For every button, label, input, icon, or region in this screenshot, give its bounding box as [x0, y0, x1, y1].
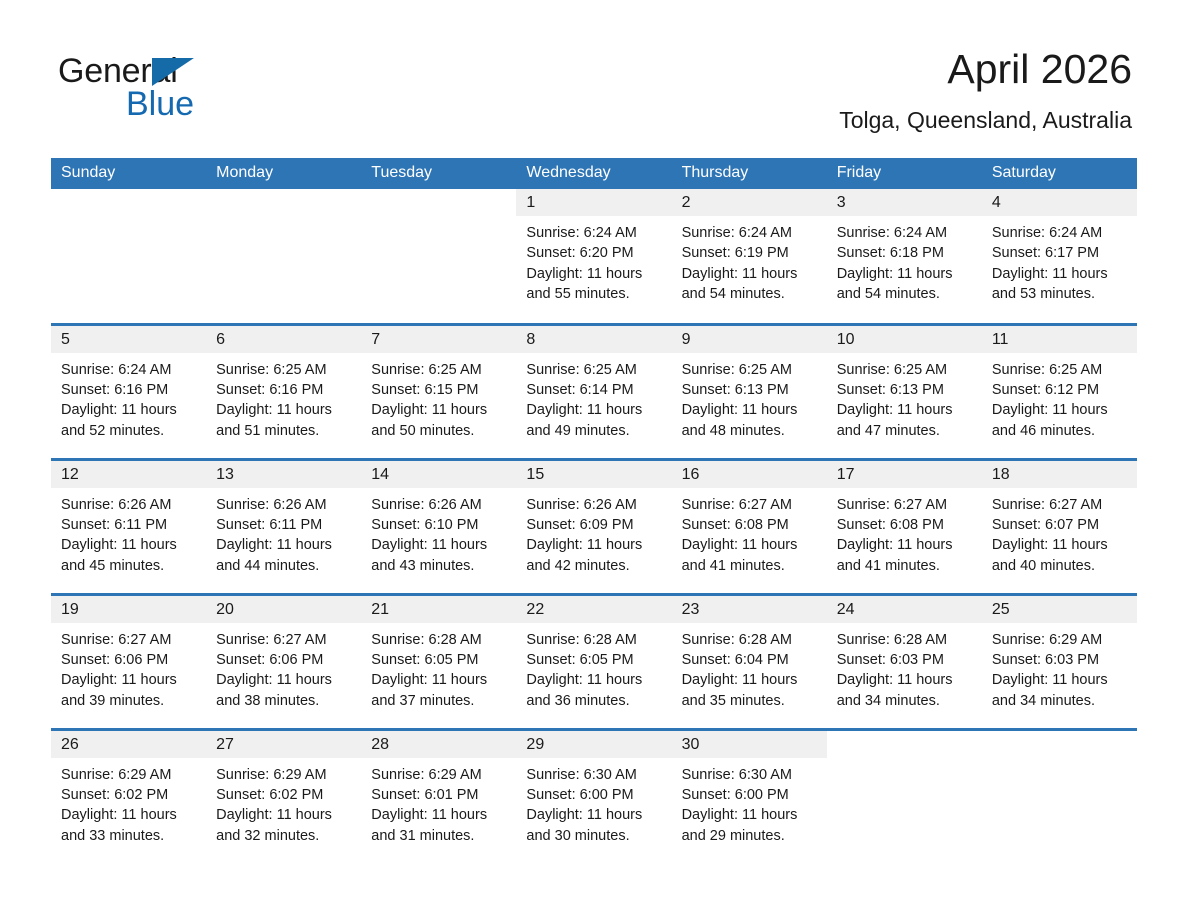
- calendar-day-cell-empty: [827, 729, 982, 864]
- calendar-day-cell[interactable]: 2Sunrise: 6:24 AMSunset: 6:19 PMDaylight…: [672, 189, 827, 324]
- sunrise-time: Sunrise: 6:27 AM: [61, 630, 198, 650]
- daylight-duration-line2: and 52 minutes.: [61, 421, 198, 441]
- day-cell-inner: 29Sunrise: 6:30 AMSunset: 6:00 PMDayligh…: [516, 731, 671, 865]
- calendar-day-cell[interactable]: 12Sunrise: 6:26 AMSunset: 6:11 PMDayligh…: [51, 459, 206, 594]
- day-detail: Sunrise: 6:25 AMSunset: 6:15 PMDaylight:…: [361, 353, 516, 442]
- daylight-duration-line1: Daylight: 11 hours: [526, 535, 663, 555]
- day-cell-inner: [361, 189, 516, 323]
- day-detail: Sunrise: 6:25 AMSunset: 6:16 PMDaylight:…: [206, 353, 361, 442]
- calendar-day-cell-empty: [361, 189, 516, 324]
- daylight-duration-line2: and 29 minutes.: [682, 826, 819, 846]
- sunrise-time: Sunrise: 6:25 AM: [216, 360, 353, 380]
- daylight-duration-line2: and 41 minutes.: [837, 556, 974, 576]
- day-number: 14: [361, 461, 516, 488]
- day-cell-inner: 25Sunrise: 6:29 AMSunset: 6:03 PMDayligh…: [982, 596, 1137, 728]
- day-cell-inner: 22Sunrise: 6:28 AMSunset: 6:05 PMDayligh…: [516, 596, 671, 728]
- day-cell-inner: 7Sunrise: 6:25 AMSunset: 6:15 PMDaylight…: [361, 326, 516, 458]
- day-number: [206, 189, 361, 216]
- daylight-duration-line2: and 33 minutes.: [61, 826, 198, 846]
- day-number: 27: [206, 731, 361, 758]
- sunset-time: Sunset: 6:07 PM: [992, 515, 1129, 535]
- sunrise-time: Sunrise: 6:28 AM: [371, 630, 508, 650]
- day-number: 29: [516, 731, 671, 758]
- title-block: April 2026 Tolga, Queensland, Australia: [839, 44, 1132, 134]
- sunrise-time: Sunrise: 6:30 AM: [526, 765, 663, 785]
- sunrise-time: Sunrise: 6:25 AM: [526, 360, 663, 380]
- sunset-time: Sunset: 6:12 PM: [992, 380, 1129, 400]
- day-detail: Sunrise: 6:29 AMSunset: 6:02 PMDaylight:…: [206, 758, 361, 847]
- sunset-time: Sunset: 6:00 PM: [526, 785, 663, 805]
- day-number: 2: [672, 189, 827, 216]
- sunset-time: Sunset: 6:03 PM: [837, 650, 974, 670]
- calendar-page: General Blue April 2026 Tolga, Queenslan…: [0, 0, 1188, 918]
- day-cell-inner: 27Sunrise: 6:29 AMSunset: 6:02 PMDayligh…: [206, 731, 361, 865]
- daylight-duration-line2: and 43 minutes.: [371, 556, 508, 576]
- calendar-day-cell[interactable]: 16Sunrise: 6:27 AMSunset: 6:08 PMDayligh…: [672, 459, 827, 594]
- sunset-time: Sunset: 6:10 PM: [371, 515, 508, 535]
- day-detail: Sunrise: 6:26 AMSunset: 6:10 PMDaylight:…: [361, 488, 516, 577]
- day-detail: Sunrise: 6:24 AMSunset: 6:16 PMDaylight:…: [51, 353, 206, 442]
- day-number: 26: [51, 731, 206, 758]
- weekday-header-saturday: Saturday: [982, 158, 1137, 189]
- calendar-day-cell[interactable]: 22Sunrise: 6:28 AMSunset: 6:05 PMDayligh…: [516, 594, 671, 729]
- day-detail: Sunrise: 6:25 AMSunset: 6:13 PMDaylight:…: [827, 353, 982, 442]
- sunrise-time: Sunrise: 6:26 AM: [526, 495, 663, 515]
- calendar-day-cell[interactable]: 1Sunrise: 6:24 AMSunset: 6:20 PMDaylight…: [516, 189, 671, 324]
- sunrise-time: Sunrise: 6:24 AM: [61, 360, 198, 380]
- day-number: 21: [361, 596, 516, 623]
- sunrise-time: Sunrise: 6:25 AM: [992, 360, 1129, 380]
- day-cell-inner: 26Sunrise: 6:29 AMSunset: 6:02 PMDayligh…: [51, 731, 206, 865]
- day-detail: Sunrise: 6:29 AMSunset: 6:02 PMDaylight:…: [51, 758, 206, 847]
- daylight-duration-line2: and 46 minutes.: [992, 421, 1129, 441]
- calendar-week-row: 12Sunrise: 6:26 AMSunset: 6:11 PMDayligh…: [51, 459, 1137, 594]
- day-number: [982, 731, 1137, 758]
- day-detail: Sunrise: 6:27 AMSunset: 6:06 PMDaylight:…: [51, 623, 206, 712]
- daylight-duration-line1: Daylight: 11 hours: [837, 264, 974, 284]
- page-header: General Blue April 2026 Tolga, Queenslan…: [0, 0, 1188, 150]
- calendar-day-cell[interactable]: 24Sunrise: 6:28 AMSunset: 6:03 PMDayligh…: [827, 594, 982, 729]
- day-cell-inner: 13Sunrise: 6:26 AMSunset: 6:11 PMDayligh…: [206, 461, 361, 593]
- day-detail: Sunrise: 6:28 AMSunset: 6:03 PMDaylight:…: [827, 623, 982, 712]
- sunset-time: Sunset: 6:17 PM: [992, 243, 1129, 263]
- calendar-day-cell[interactable]: 15Sunrise: 6:26 AMSunset: 6:09 PMDayligh…: [516, 459, 671, 594]
- day-detail: Sunrise: 6:26 AMSunset: 6:11 PMDaylight:…: [51, 488, 206, 577]
- daylight-duration-line2: and 54 minutes.: [682, 284, 819, 304]
- weekday-header-monday: Monday: [206, 158, 361, 189]
- day-number: 13: [206, 461, 361, 488]
- day-number: 8: [516, 326, 671, 353]
- sunset-time: Sunset: 6:04 PM: [682, 650, 819, 670]
- day-detail: Sunrise: 6:28 AMSunset: 6:04 PMDaylight:…: [672, 623, 827, 712]
- day-cell-inner: 8Sunrise: 6:25 AMSunset: 6:14 PMDaylight…: [516, 326, 671, 458]
- sunrise-time: Sunrise: 6:24 AM: [992, 223, 1129, 243]
- day-cell-inner: [206, 189, 361, 323]
- day-detail: Sunrise: 6:28 AMSunset: 6:05 PMDaylight:…: [516, 623, 671, 712]
- daylight-duration-line1: Daylight: 11 hours: [992, 400, 1129, 420]
- day-detail: Sunrise: 6:24 AMSunset: 6:18 PMDaylight:…: [827, 216, 982, 305]
- sunset-time: Sunset: 6:11 PM: [216, 515, 353, 535]
- day-number: 3: [827, 189, 982, 216]
- calendar-day-cell[interactable]: 14Sunrise: 6:26 AMSunset: 6:10 PMDayligh…: [361, 459, 516, 594]
- day-cell-inner: 5Sunrise: 6:24 AMSunset: 6:16 PMDaylight…: [51, 326, 206, 458]
- sunset-time: Sunset: 6:02 PM: [61, 785, 198, 805]
- calendar-day-cell[interactable]: 18Sunrise: 6:27 AMSunset: 6:07 PMDayligh…: [982, 459, 1137, 594]
- sunrise-time: Sunrise: 6:29 AM: [216, 765, 353, 785]
- day-cell-inner: 17Sunrise: 6:27 AMSunset: 6:08 PMDayligh…: [827, 461, 982, 593]
- day-number: 12: [51, 461, 206, 488]
- sunset-time: Sunset: 6:02 PM: [216, 785, 353, 805]
- day-cell-inner: 28Sunrise: 6:29 AMSunset: 6:01 PMDayligh…: [361, 731, 516, 865]
- daylight-duration-line1: Daylight: 11 hours: [371, 400, 508, 420]
- sunset-time: Sunset: 6:11 PM: [61, 515, 198, 535]
- day-number: 4: [982, 189, 1137, 216]
- daylight-duration-line2: and 51 minutes.: [216, 421, 353, 441]
- calendar-week-row: 26Sunrise: 6:29 AMSunset: 6:02 PMDayligh…: [51, 729, 1137, 864]
- day-number: [361, 189, 516, 216]
- day-cell-inner: 23Sunrise: 6:28 AMSunset: 6:04 PMDayligh…: [672, 596, 827, 728]
- sunrise-time: Sunrise: 6:26 AM: [371, 495, 508, 515]
- day-number: 24: [827, 596, 982, 623]
- calendar-day-cell[interactable]: 3Sunrise: 6:24 AMSunset: 6:18 PMDaylight…: [827, 189, 982, 324]
- sunset-time: Sunset: 6:18 PM: [837, 243, 974, 263]
- day-number: 11: [982, 326, 1137, 353]
- logo-text-blue: Blue: [126, 85, 194, 123]
- daylight-duration-line1: Daylight: 11 hours: [526, 670, 663, 690]
- daylight-duration-line2: and 35 minutes.: [682, 691, 819, 711]
- day-cell-inner: 2Sunrise: 6:24 AMSunset: 6:19 PMDaylight…: [672, 189, 827, 323]
- calendar-day-cell[interactable]: 20Sunrise: 6:27 AMSunset: 6:06 PMDayligh…: [206, 594, 361, 729]
- day-number: 16: [672, 461, 827, 488]
- daylight-duration-line2: and 55 minutes.: [526, 284, 663, 304]
- day-number: 28: [361, 731, 516, 758]
- sunrise-time: Sunrise: 6:28 AM: [526, 630, 663, 650]
- sunrise-time: Sunrise: 6:24 AM: [526, 223, 663, 243]
- calendar-week-row: 5Sunrise: 6:24 AMSunset: 6:16 PMDaylight…: [51, 324, 1137, 459]
- daylight-duration-line2: and 44 minutes.: [216, 556, 353, 576]
- day-cell-inner: 10Sunrise: 6:25 AMSunset: 6:13 PMDayligh…: [827, 326, 982, 458]
- day-number: 25: [982, 596, 1137, 623]
- sunset-time: Sunset: 6:14 PM: [526, 380, 663, 400]
- day-detail: Sunrise: 6:24 AMSunset: 6:19 PMDaylight:…: [672, 216, 827, 305]
- sunrise-time: Sunrise: 6:27 AM: [837, 495, 974, 515]
- location-subtitle: Tolga, Queensland, Australia: [839, 106, 1132, 134]
- sunset-time: Sunset: 6:19 PM: [682, 243, 819, 263]
- daylight-duration-line1: Daylight: 11 hours: [992, 535, 1129, 555]
- day-detail: Sunrise: 6:27 AMSunset: 6:06 PMDaylight:…: [206, 623, 361, 712]
- day-number: 15: [516, 461, 671, 488]
- weekday-header-tuesday: Tuesday: [361, 158, 516, 189]
- daylight-duration-line2: and 36 minutes.: [526, 691, 663, 711]
- sunset-time: Sunset: 6:13 PM: [682, 380, 819, 400]
- day-cell-inner: 18Sunrise: 6:27 AMSunset: 6:07 PMDayligh…: [982, 461, 1137, 593]
- calendar-day-cell[interactable]: 28Sunrise: 6:29 AMSunset: 6:01 PMDayligh…: [361, 729, 516, 864]
- daylight-duration-line2: and 38 minutes.: [216, 691, 353, 711]
- sunset-time: Sunset: 6:20 PM: [526, 243, 663, 263]
- sunset-time: Sunset: 6:08 PM: [837, 515, 974, 535]
- daylight-duration-line2: and 47 minutes.: [837, 421, 974, 441]
- daylight-duration-line1: Daylight: 11 hours: [682, 670, 819, 690]
- sunset-time: Sunset: 6:15 PM: [371, 380, 508, 400]
- daylight-duration-line2: and 37 minutes.: [371, 691, 508, 711]
- calendar-day-cell[interactable]: 5Sunrise: 6:24 AMSunset: 6:16 PMDaylight…: [51, 324, 206, 459]
- day-cell-inner: 12Sunrise: 6:26 AMSunset: 6:11 PMDayligh…: [51, 461, 206, 593]
- sunset-time: Sunset: 6:00 PM: [682, 785, 819, 805]
- logo-triangle-icon: [152, 58, 194, 86]
- daylight-duration-line2: and 34 minutes.: [992, 691, 1129, 711]
- sunrise-time: Sunrise: 6:27 AM: [992, 495, 1129, 515]
- calendar-day-cell[interactable]: 4Sunrise: 6:24 AMSunset: 6:17 PMDaylight…: [982, 189, 1137, 324]
- day-cell-inner: 16Sunrise: 6:27 AMSunset: 6:08 PMDayligh…: [672, 461, 827, 593]
- daylight-duration-line1: Daylight: 11 hours: [216, 400, 353, 420]
- day-number: 17: [827, 461, 982, 488]
- sunset-time: Sunset: 6:13 PM: [837, 380, 974, 400]
- daylight-duration-line2: and 40 minutes.: [992, 556, 1129, 576]
- calendar-day-cell[interactable]: 7Sunrise: 6:25 AMSunset: 6:15 PMDaylight…: [361, 324, 516, 459]
- calendar-day-cell[interactable]: 25Sunrise: 6:29 AMSunset: 6:03 PMDayligh…: [982, 594, 1137, 729]
- generalblue-logo[interactable]: General Blue: [58, 52, 378, 132]
- calendar-body: 1Sunrise: 6:24 AMSunset: 6:20 PMDaylight…: [51, 189, 1137, 864]
- daylight-duration-line2: and 54 minutes.: [837, 284, 974, 304]
- daylight-duration-line1: Daylight: 11 hours: [526, 400, 663, 420]
- day-detail: Sunrise: 6:25 AMSunset: 6:12 PMDaylight:…: [982, 353, 1137, 442]
- day-cell-inner: [51, 189, 206, 323]
- calendar-day-cell[interactable]: 23Sunrise: 6:28 AMSunset: 6:04 PMDayligh…: [672, 594, 827, 729]
- sunset-time: Sunset: 6:05 PM: [371, 650, 508, 670]
- day-number: 10: [827, 326, 982, 353]
- day-detail: Sunrise: 6:26 AMSunset: 6:09 PMDaylight:…: [516, 488, 671, 577]
- day-cell-inner: 14Sunrise: 6:26 AMSunset: 6:10 PMDayligh…: [361, 461, 516, 593]
- sunset-time: Sunset: 6:06 PM: [61, 650, 198, 670]
- daylight-duration-line1: Daylight: 11 hours: [837, 535, 974, 555]
- calendar-day-cell[interactable]: 6Sunrise: 6:25 AMSunset: 6:16 PMDaylight…: [206, 324, 361, 459]
- daylight-duration-line1: Daylight: 11 hours: [216, 805, 353, 825]
- weekday-header-wednesday: Wednesday: [516, 158, 671, 189]
- sunrise-time: Sunrise: 6:25 AM: [837, 360, 974, 380]
- day-detail: Sunrise: 6:25 AMSunset: 6:13 PMDaylight:…: [672, 353, 827, 442]
- day-number: [51, 189, 206, 216]
- daylight-duration-line1: Daylight: 11 hours: [682, 264, 819, 284]
- day-cell-inner: 24Sunrise: 6:28 AMSunset: 6:03 PMDayligh…: [827, 596, 982, 728]
- daylight-duration-line2: and 34 minutes.: [837, 691, 974, 711]
- daylight-duration-line1: Daylight: 11 hours: [837, 400, 974, 420]
- sunset-time: Sunset: 6:05 PM: [526, 650, 663, 670]
- daylight-duration-line1: Daylight: 11 hours: [526, 805, 663, 825]
- daylight-duration-line2: and 39 minutes.: [61, 691, 198, 711]
- daylight-duration-line1: Daylight: 11 hours: [371, 670, 508, 690]
- day-detail: Sunrise: 6:25 AMSunset: 6:14 PMDaylight:…: [516, 353, 671, 442]
- day-number: 5: [51, 326, 206, 353]
- daylight-duration-line2: and 50 minutes.: [371, 421, 508, 441]
- sunrise-time: Sunrise: 6:27 AM: [682, 495, 819, 515]
- day-detail: Sunrise: 6:30 AMSunset: 6:00 PMDaylight:…: [516, 758, 671, 847]
- calendar-day-cell[interactable]: 13Sunrise: 6:26 AMSunset: 6:11 PMDayligh…: [206, 459, 361, 594]
- day-number: 30: [672, 731, 827, 758]
- daylight-duration-line2: and 53 minutes.: [992, 284, 1129, 304]
- daylight-duration-line2: and 42 minutes.: [526, 556, 663, 576]
- day-detail: Sunrise: 6:28 AMSunset: 6:05 PMDaylight:…: [361, 623, 516, 712]
- sunrise-time: Sunrise: 6:26 AM: [216, 495, 353, 515]
- day-number: [827, 731, 982, 758]
- day-cell-inner: 15Sunrise: 6:26 AMSunset: 6:09 PMDayligh…: [516, 461, 671, 593]
- weekday-header-thursday: Thursday: [672, 158, 827, 189]
- daylight-duration-line2: and 32 minutes.: [216, 826, 353, 846]
- day-detail: Sunrise: 6:29 AMSunset: 6:01 PMDaylight:…: [361, 758, 516, 847]
- sunset-time: Sunset: 6:03 PM: [992, 650, 1129, 670]
- daylight-duration-line2: and 41 minutes.: [682, 556, 819, 576]
- calendar-week-row: 19Sunrise: 6:27 AMSunset: 6:06 PMDayligh…: [51, 594, 1137, 729]
- daylight-duration-line1: Daylight: 11 hours: [61, 670, 198, 690]
- daylight-duration-line1: Daylight: 11 hours: [61, 400, 198, 420]
- daylight-duration-line1: Daylight: 11 hours: [216, 670, 353, 690]
- calendar-day-cell-empty: [206, 189, 361, 324]
- day-cell-inner: 19Sunrise: 6:27 AMSunset: 6:06 PMDayligh…: [51, 596, 206, 728]
- calendar-day-cell[interactable]: 8Sunrise: 6:25 AMSunset: 6:14 PMDaylight…: [516, 324, 671, 459]
- day-number: 19: [51, 596, 206, 623]
- sunrise-time: Sunrise: 6:28 AM: [682, 630, 819, 650]
- day-cell-inner: 3Sunrise: 6:24 AMSunset: 6:18 PMDaylight…: [827, 189, 982, 323]
- sunrise-time: Sunrise: 6:29 AM: [371, 765, 508, 785]
- sunset-time: Sunset: 6:16 PM: [216, 380, 353, 400]
- sunrise-time: Sunrise: 6:25 AM: [371, 360, 508, 380]
- daylight-duration-line1: Daylight: 11 hours: [371, 535, 508, 555]
- calendar-day-cell[interactable]: 27Sunrise: 6:29 AMSunset: 6:02 PMDayligh…: [206, 729, 361, 864]
- sunrise-time: Sunrise: 6:26 AM: [61, 495, 198, 515]
- daylight-duration-line1: Daylight: 11 hours: [61, 535, 198, 555]
- day-detail: Sunrise: 6:30 AMSunset: 6:00 PMDaylight:…: [672, 758, 827, 847]
- daylight-duration-line1: Daylight: 11 hours: [837, 670, 974, 690]
- day-detail: Sunrise: 6:27 AMSunset: 6:07 PMDaylight:…: [982, 488, 1137, 577]
- day-detail: Sunrise: 6:26 AMSunset: 6:11 PMDaylight:…: [206, 488, 361, 577]
- day-number: 22: [516, 596, 671, 623]
- day-detail: Sunrise: 6:29 AMSunset: 6:03 PMDaylight:…: [982, 623, 1137, 712]
- calendar-day-cell-empty: [51, 189, 206, 324]
- calendar-day-cell[interactable]: 11Sunrise: 6:25 AMSunset: 6:12 PMDayligh…: [982, 324, 1137, 459]
- sunset-time: Sunset: 6:06 PM: [216, 650, 353, 670]
- day-cell-inner: 6Sunrise: 6:25 AMSunset: 6:16 PMDaylight…: [206, 326, 361, 458]
- sunset-time: Sunset: 6:01 PM: [371, 785, 508, 805]
- daylight-duration-line2: and 31 minutes.: [371, 826, 508, 846]
- daylight-duration-line1: Daylight: 11 hours: [526, 264, 663, 284]
- daylight-duration-line1: Daylight: 11 hours: [992, 670, 1129, 690]
- day-cell-inner: 30Sunrise: 6:30 AMSunset: 6:00 PMDayligh…: [672, 731, 827, 865]
- daylight-duration-line2: and 30 minutes.: [526, 826, 663, 846]
- daylight-duration-line1: Daylight: 11 hours: [61, 805, 198, 825]
- calendar-day-cell[interactable]: 26Sunrise: 6:29 AMSunset: 6:02 PMDayligh…: [51, 729, 206, 864]
- day-number: 1: [516, 189, 671, 216]
- calendar-day-cell[interactable]: 30Sunrise: 6:30 AMSunset: 6:00 PMDayligh…: [672, 729, 827, 864]
- sunrise-time: Sunrise: 6:27 AM: [216, 630, 353, 650]
- logo-text-general: General: [58, 52, 378, 90]
- daylight-duration-line2: and 48 minutes.: [682, 421, 819, 441]
- calendar-week-row: 1Sunrise: 6:24 AMSunset: 6:20 PMDaylight…: [51, 189, 1137, 324]
- day-cell-inner: [982, 731, 1137, 865]
- daylight-duration-line1: Daylight: 11 hours: [682, 535, 819, 555]
- day-number: 6: [206, 326, 361, 353]
- day-detail: Sunrise: 6:24 AMSunset: 6:20 PMDaylight:…: [516, 216, 671, 305]
- day-cell-inner: 1Sunrise: 6:24 AMSunset: 6:20 PMDaylight…: [516, 189, 671, 323]
- sunset-time: Sunset: 6:09 PM: [526, 515, 663, 535]
- sunrise-sunset-calendar: Sunday Monday Tuesday Wednesday Thursday…: [51, 158, 1137, 864]
- calendar-day-cell[interactable]: 21Sunrise: 6:28 AMSunset: 6:05 PMDayligh…: [361, 594, 516, 729]
- sunrise-time: Sunrise: 6:24 AM: [682, 223, 819, 243]
- weekday-header-friday: Friday: [827, 158, 982, 189]
- calendar-day-cell[interactable]: 19Sunrise: 6:27 AMSunset: 6:06 PMDayligh…: [51, 594, 206, 729]
- daylight-duration-line2: and 49 minutes.: [526, 421, 663, 441]
- day-detail: Sunrise: 6:27 AMSunset: 6:08 PMDaylight:…: [827, 488, 982, 577]
- page-title: April 2026: [839, 44, 1132, 94]
- sunset-time: Sunset: 6:16 PM: [61, 380, 198, 400]
- daylight-duration-line2: and 45 minutes.: [61, 556, 198, 576]
- day-number: 9: [672, 326, 827, 353]
- calendar-day-cell-empty: [982, 729, 1137, 864]
- daylight-duration-line1: Daylight: 11 hours: [216, 535, 353, 555]
- daylight-duration-line1: Daylight: 11 hours: [371, 805, 508, 825]
- calendar-day-cell[interactable]: 17Sunrise: 6:27 AMSunset: 6:08 PMDayligh…: [827, 459, 982, 594]
- sunrise-time: Sunrise: 6:29 AM: [992, 630, 1129, 650]
- day-cell-inner: 11Sunrise: 6:25 AMSunset: 6:12 PMDayligh…: [982, 326, 1137, 458]
- sunrise-time: Sunrise: 6:25 AM: [682, 360, 819, 380]
- day-cell-inner: 21Sunrise: 6:28 AMSunset: 6:05 PMDayligh…: [361, 596, 516, 728]
- weekday-header-sunday: Sunday: [51, 158, 206, 189]
- daylight-duration-line1: Daylight: 11 hours: [992, 264, 1129, 284]
- day-number: 23: [672, 596, 827, 623]
- sunrise-time: Sunrise: 6:24 AM: [837, 223, 974, 243]
- calendar-day-cell[interactable]: 29Sunrise: 6:30 AMSunset: 6:00 PMDayligh…: [516, 729, 671, 864]
- day-cell-inner: 9Sunrise: 6:25 AMSunset: 6:13 PMDaylight…: [672, 326, 827, 458]
- day-number: 7: [361, 326, 516, 353]
- day-detail: Sunrise: 6:24 AMSunset: 6:17 PMDaylight:…: [982, 216, 1137, 305]
- day-detail: Sunrise: 6:27 AMSunset: 6:08 PMDaylight:…: [672, 488, 827, 577]
- day-number: 20: [206, 596, 361, 623]
- sunrise-time: Sunrise: 6:29 AM: [61, 765, 198, 785]
- daylight-duration-line1: Daylight: 11 hours: [682, 805, 819, 825]
- sunrise-time: Sunrise: 6:30 AM: [682, 765, 819, 785]
- daylight-duration-line1: Daylight: 11 hours: [682, 400, 819, 420]
- day-number: 18: [982, 461, 1137, 488]
- weekday-header-row: Sunday Monday Tuesday Wednesday Thursday…: [51, 158, 1137, 189]
- calendar-day-cell[interactable]: 10Sunrise: 6:25 AMSunset: 6:13 PMDayligh…: [827, 324, 982, 459]
- day-cell-inner: 4Sunrise: 6:24 AMSunset: 6:17 PMDaylight…: [982, 189, 1137, 323]
- sunset-time: Sunset: 6:08 PM: [682, 515, 819, 535]
- calendar-day-cell[interactable]: 9Sunrise: 6:25 AMSunset: 6:13 PMDaylight…: [672, 324, 827, 459]
- day-cell-inner: 20Sunrise: 6:27 AMSunset: 6:06 PMDayligh…: [206, 596, 361, 728]
- sunrise-time: Sunrise: 6:28 AM: [837, 630, 974, 650]
- day-cell-inner: [827, 731, 982, 865]
